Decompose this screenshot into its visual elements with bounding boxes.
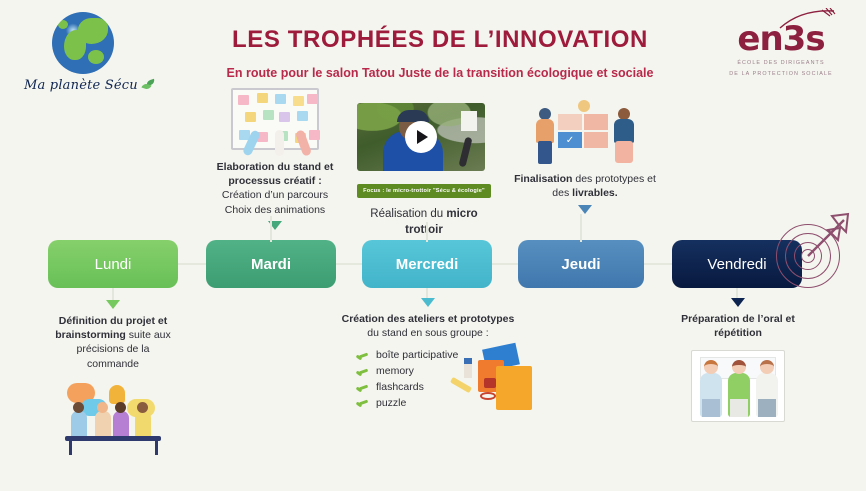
lundi-line1: Définition du projet et [28, 314, 198, 328]
jeudi-line2: des livrables. [500, 186, 670, 200]
lundi-bold2: brainstorming [55, 329, 126, 341]
timeline-row: Lundi Mardi Mercredi Jeudi Vendredi [0, 240, 866, 290]
stem-line [426, 222, 428, 242]
check-icon [356, 398, 369, 408]
mardi-line4: Choix des animations [192, 203, 358, 217]
mercredi-top-text: Réalisation du micro trottoir [357, 207, 491, 238]
play-button[interactable] [405, 121, 437, 153]
stem-line [270, 216, 272, 242]
page-subtitle: En route pour le salon Tatou Juste de la… [180, 66, 700, 80]
video-caption: Focus : le micro-trottoir "Sécu & écolog… [357, 184, 491, 198]
oral-presentation-illustration [691, 350, 785, 422]
block-mardi-top: Elaboration du stand et processus créati… [192, 88, 358, 230]
day-pill-mardi[interactable]: Mardi [206, 240, 336, 288]
lundi-line2: brainstorming suite aux [28, 328, 198, 342]
infographic-canvas: Ma planète Sécu LES TROPHÉES DE L’INNOVA… [0, 0, 866, 491]
page-title: LES TROPHÉES DE L’INNOVATION [180, 26, 700, 54]
target-icon [770, 212, 854, 296]
lightbulb-icon [109, 385, 125, 404]
jeudi-plain2: des [552, 187, 572, 199]
arrow-down-icon [578, 205, 592, 214]
arrow-down-icon [106, 300, 120, 309]
jeudi-bold1: Finalisation [514, 173, 572, 185]
mardi-line2: processus créatif : [192, 174, 358, 188]
arrow-icon [770, 212, 854, 296]
connector-line [644, 263, 672, 265]
brainstorming-illustration [61, 381, 165, 455]
interviewee-cap [397, 110, 429, 122]
arrow-down-icon [731, 298, 745, 307]
block-vendredi-bottom: Préparation de l’oral et répétition [650, 298, 826, 422]
day-pill-lundi[interactable]: Lundi [48, 240, 178, 288]
logo-left-wordmark: Ma planète Sécu [24, 78, 142, 93]
mardi-line3: Création d’un parcours [192, 188, 358, 202]
check-icon [356, 351, 369, 361]
mercredi-top-text-plain: Réalisation du [370, 208, 446, 220]
lundi-plain1: suite aux [126, 329, 171, 341]
check-icon [356, 367, 369, 377]
craft-supplies-illustration [438, 344, 542, 418]
check-icon [356, 383, 369, 393]
check-icon: ✓ [559, 133, 581, 147]
globe-icon [52, 12, 114, 74]
logo-en3s: en3s ÉCOLE DES DIRIGEANTS DE LA PROTECTI… [718, 22, 844, 78]
block-jeudi-top: ✓ Finalisation des prototypes et des liv… [500, 92, 670, 214]
day-label-jeudi: Jeudi [561, 256, 600, 273]
swoosh-icon [778, 8, 838, 30]
lundi-line4: commande [28, 357, 198, 371]
day-label-lundi: Lundi [95, 256, 132, 273]
connector-line [334, 263, 364, 265]
vendredi-line1: Préparation de l’oral et [650, 312, 826, 326]
day-label-mercredi: Mercredi [396, 256, 459, 273]
sprout-icon [142, 79, 156, 91]
en3s-wordmark: en3s [718, 22, 844, 56]
block-lundi-bottom: Définition du projet et brainstorming su… [28, 300, 198, 455]
presenter [700, 373, 722, 417]
mardi-line1: Elaboration du stand et [192, 160, 358, 174]
vendredi-line2: répétition [650, 326, 826, 340]
presenter [756, 373, 778, 417]
presenter [728, 373, 750, 417]
en3s-subtitle-line2: DE LA PROTECTION SOCIALE [718, 70, 844, 78]
day-pill-jeudi[interactable]: Jeudi [518, 240, 644, 288]
sticky-notes-board-illustration [231, 88, 319, 150]
video-thumbnail[interactable] [357, 103, 485, 171]
title-block: LES TROPHÉES DE L’INNOVATION En route po… [180, 26, 700, 80]
day-label-mardi: Mardi [251, 256, 291, 273]
arrow-down-icon [421, 298, 435, 307]
logo-ma-planete-secu: Ma planète Sécu [24, 12, 142, 93]
mercredi-bottom-line2: du stand en sous groupe : [330, 326, 526, 340]
team-prototypes-illustration: ✓ [500, 92, 670, 164]
lundi-line3: précisions de la [28, 342, 198, 356]
connector-line [490, 263, 518, 265]
poster-prop [461, 111, 477, 131]
connector-line [178, 263, 208, 265]
jeudi-bold2: livrables. [572, 187, 618, 199]
hand-icon [275, 130, 284, 156]
day-label-vendredi: Vendredi [707, 256, 766, 273]
logo-left-text: Ma planète Sécu [24, 78, 138, 93]
day-pill-mercredi[interactable]: Mercredi [362, 240, 492, 288]
block-mercredi-top: Focus : le micro-trottoir "Sécu & écolog… [357, 103, 491, 250]
en3s-subtitle-line1: ÉCOLE DES DIRIGEANTS [718, 59, 844, 67]
block-mercredi-bottom: Création des ateliers et prototypes du s… [330, 298, 526, 413]
jeudi-plain1: des prototypes et [572, 173, 655, 185]
stem-line [580, 214, 582, 242]
mercredi-bottom-line1: Création des ateliers et prototypes [330, 312, 526, 326]
jeudi-line1: Finalisation des prototypes et [500, 172, 670, 186]
